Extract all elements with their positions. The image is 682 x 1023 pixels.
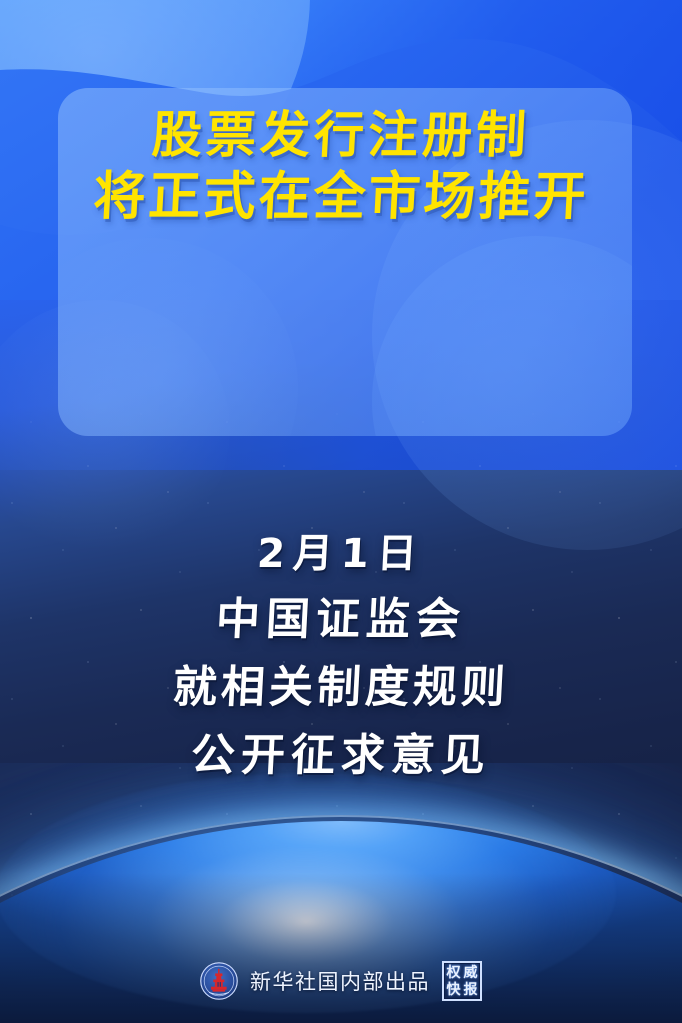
headline-line-2: 将正式在全市场推开 [0,166,682,228]
body-line-2: 中国证监会 [0,586,682,654]
authority-bulletin-stamp: 权 威 快 报 [442,961,482,1001]
body-line-3: 就相关制度规则 [0,654,682,722]
stamp-char-1: 权 [447,966,461,980]
news-poster: 股票发行注册制 将正式在全市场推开 2月1日 中国证监会 就相关制度规则 公开征… [0,0,682,1023]
body-copy: 2月1日 中国证监会 就相关制度规则 公开征求意见 [0,522,682,790]
footer-producer-label: 新华社国内部出品 [250,966,430,996]
stamp-char-3: 快 [447,983,461,997]
headline: 股票发行注册制 将正式在全市场推开 [0,104,682,228]
stamp-char-2: 威 [464,966,478,980]
body-line-4: 公开征求意见 [0,722,682,790]
stamp-char-4: 报 [464,983,478,997]
footer: 新华社国内部出品 权 威 快 报 [0,957,682,1005]
body-line-date: 2月1日 [0,522,682,586]
headline-line-1: 股票发行注册制 [0,104,682,166]
xinhua-news-agency-logo-icon [200,962,238,1000]
